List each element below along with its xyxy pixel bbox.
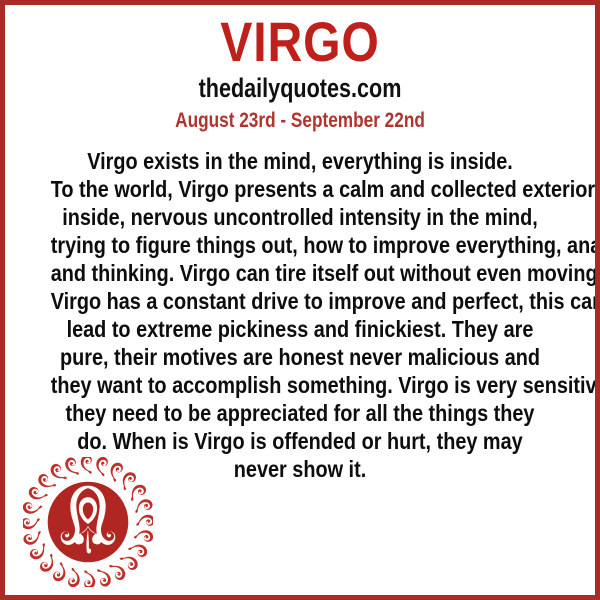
quote-line: inside, nervous uncontrolled intensity i… [51,203,550,231]
flame-petal [51,562,70,584]
quote-line: Virgo exists in the mind, everything is … [51,147,550,175]
flame-petal [84,570,95,587]
flame-petal [23,518,40,529]
flame-petal [126,482,148,501]
date-range: August 23rd - September 22nd [58,109,542,133]
quote-line: they want to accomplish something. Virgo… [51,371,550,399]
flame-petal [23,531,43,547]
flame-petal [93,457,109,476]
virgo-zodiac-medallion-icon [23,457,153,587]
flame-petal [136,515,153,526]
quote-line: and thinking. Virgo can tire itself out … [51,259,550,287]
quote-line: lead to extreme pickiness and finickiest… [51,315,550,343]
flame-petal [133,498,153,514]
quote-line: do. When is Virgo is offended or hurt, t… [51,427,550,455]
flame-petal [109,560,128,582]
zodiac-quote-card: VIRGO thedailyquotes.com August 23rd - S… [0,0,600,600]
page-title: VIRGO [46,13,553,71]
quote-line: Virgo has a constant drive to improve an… [51,287,550,315]
flame-petal [23,501,42,517]
flame-petal [67,568,83,587]
flame-petal [26,485,48,504]
quote-body: Virgo exists in the mind, everything is … [5,147,595,483]
flame-petal [128,540,150,559]
flame-petal [106,460,125,482]
quote-line: they need to be appreciated for all the … [51,399,550,427]
card-header: VIRGO thedailyquotes.com August 23rd - S… [5,5,595,133]
flame-petal [64,457,80,477]
flame-petal [48,462,67,484]
flame-petal [81,457,92,474]
flame-petal [97,567,113,587]
site-name: thedailyquotes.com [64,73,536,103]
virgo-medallion-svg [23,457,153,587]
flame-petal [134,527,153,543]
quote-line: trying to figure things out, how to impr… [51,231,550,259]
quote-line: pure, their motives are honest never mal… [51,343,550,371]
flame-petal [28,543,50,562]
quote-line: To the world, Virgo presents a calm and … [51,175,550,203]
